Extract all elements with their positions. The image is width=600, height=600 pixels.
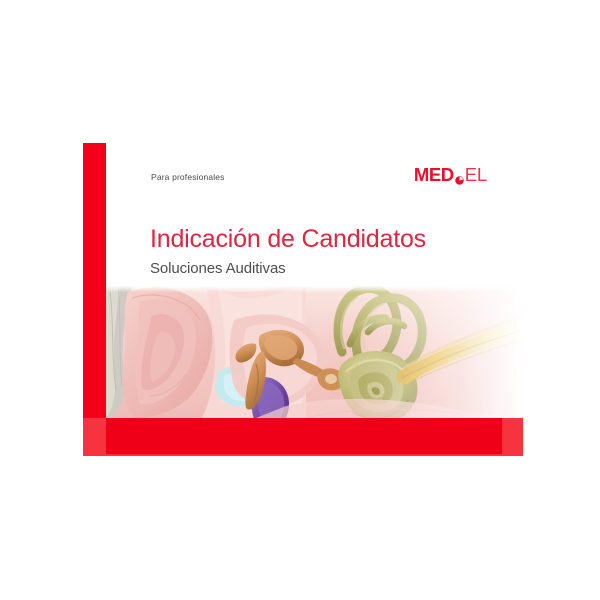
left-accent-bar	[83, 143, 106, 418]
logo-text-med: MED	[414, 166, 454, 185]
audience-eyebrow: Para profesionales	[151, 172, 225, 182]
medel-logo: MED EL	[414, 165, 487, 185]
medel-dot-mark-icon	[455, 172, 464, 181]
cover-title: Indicación de Candidatos	[150, 225, 426, 254]
brochure-cover: Para profesionales MED EL Indicación de …	[83, 143, 523, 456]
cover-subtitle: Soluciones Auditivas	[150, 260, 286, 277]
ear-anatomy-illustration	[106, 286, 523, 418]
bottom-accent-band	[106, 418, 502, 454]
logo-text-el: EL	[465, 166, 487, 185]
